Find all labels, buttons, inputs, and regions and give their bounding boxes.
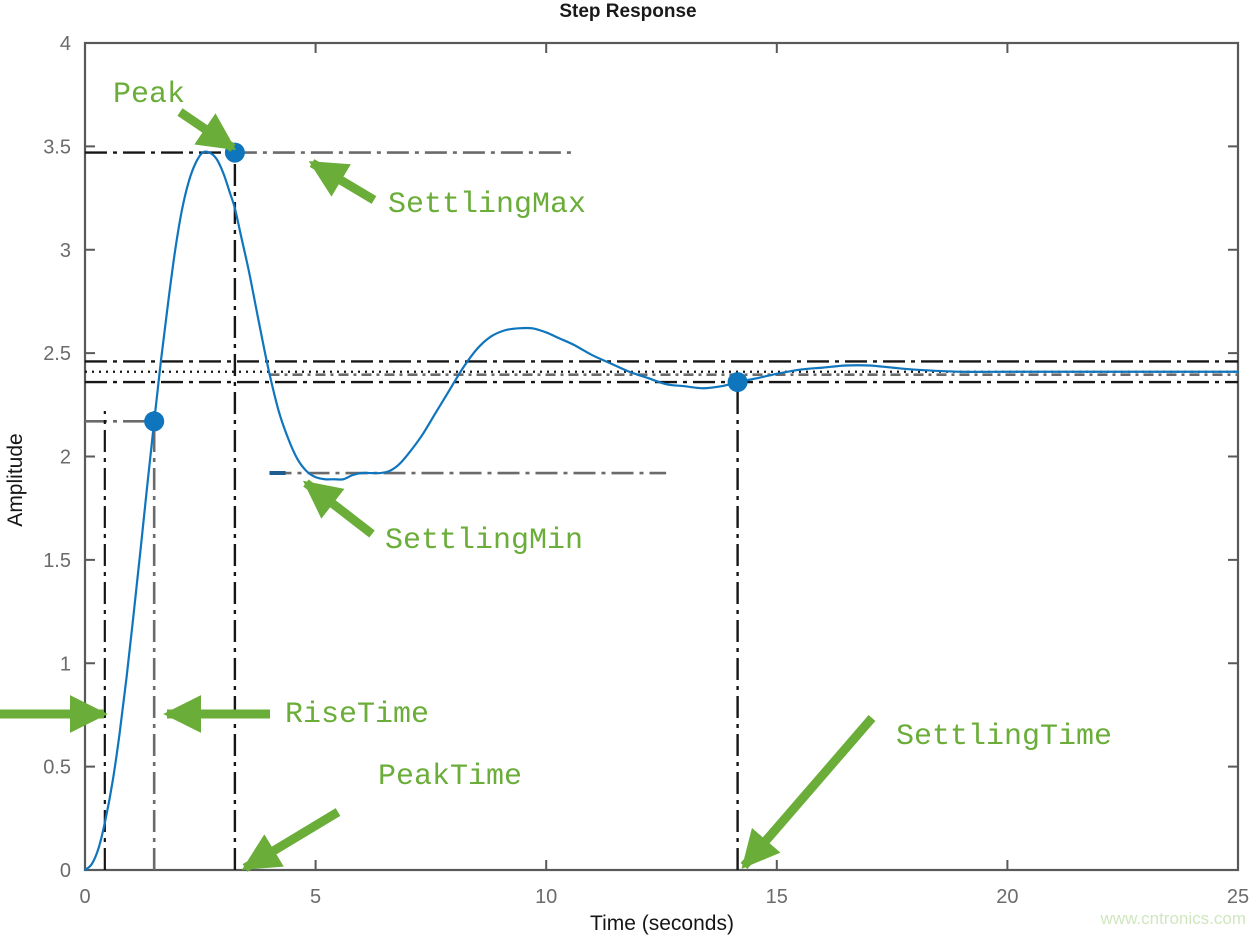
- y-tick-label: 1: [60, 653, 71, 675]
- y-tick-label: 2: [60, 447, 71, 469]
- rise-time-label: RiseTime: [285, 698, 429, 732]
- x-tick-label: 25: [1227, 886, 1249, 908]
- x-tick-label: 10: [535, 886, 557, 908]
- peak-time-label: PeakTime: [378, 760, 522, 794]
- y-tick-label: 1.5: [43, 550, 71, 572]
- x-axis-label: Time (seconds): [590, 912, 734, 935]
- figure-background: [0, 0, 1256, 940]
- settling-max-label: SettlingMax: [388, 188, 586, 222]
- x-tick-label: 20: [996, 886, 1018, 908]
- y-tick-label: 2.5: [43, 343, 71, 365]
- step-response-chart[interactable]: Step Response 00.511.522.533.54 05101520…: [0, 0, 1256, 940]
- y-tick-label: 3: [60, 240, 71, 262]
- x-tick-label: 0: [79, 886, 90, 908]
- settling-time-point[interactable]: [728, 372, 748, 392]
- rise-time-point[interactable]: [144, 411, 164, 431]
- y-tick-label: 0.5: [43, 757, 71, 779]
- y-axis-label: Amplitude: [4, 433, 27, 526]
- x-tick-label: 15: [766, 886, 788, 908]
- peak-label: Peak: [113, 78, 185, 112]
- watermark: www.cntronics.com: [1100, 909, 1246, 928]
- x-tick-label: 5: [310, 886, 321, 908]
- settling-time-label: SettlingTime: [896, 720, 1112, 754]
- y-tick-label: 0: [60, 860, 71, 882]
- page-title: Step Response: [559, 1, 696, 22]
- y-tick-label: 4: [60, 33, 71, 55]
- settling-min-label: SettlingMin: [385, 524, 583, 558]
- y-tick-label: 3.5: [43, 136, 71, 158]
- figure-root: Step Response 00.511.522.533.54 05101520…: [0, 0, 1256, 940]
